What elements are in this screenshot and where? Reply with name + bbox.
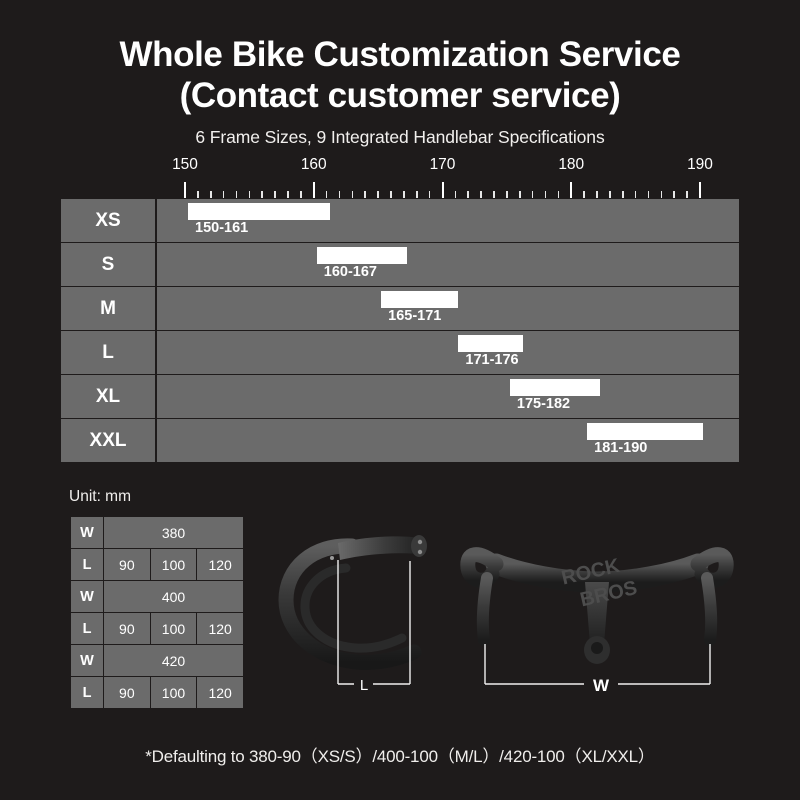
range-text-xl: 175-182 — [517, 396, 570, 412]
size-range-track-m: 165-171 — [156, 287, 740, 331]
steerer-bore — [591, 642, 603, 654]
ruler-minor-tick — [673, 191, 675, 198]
ruler-minor-tick — [506, 191, 508, 198]
ruler-minor-tick — [661, 191, 663, 198]
ruler-minor-tick — [467, 191, 469, 198]
range-bar-m — [381, 291, 458, 308]
range-text-m: 165-171 — [388, 308, 441, 324]
spec-row-header-l-3: L — [71, 613, 104, 645]
ruler-minor-tick — [545, 191, 547, 198]
size-range-track-xxl: 181-190 — [156, 419, 740, 463]
spec-row-header-w-4: W — [71, 645, 104, 677]
page-subtitle: 6 Frame Sizes, 9 Integrated Handlebar Sp… — [0, 127, 800, 148]
ruler-minor-tick — [377, 191, 379, 198]
side-view-dimension-label: L — [360, 677, 368, 694]
size-range-track-l: 171-176 — [156, 331, 740, 375]
size-range-track-xl: 175-182 — [156, 375, 740, 419]
ruler-minor-tick — [339, 191, 341, 198]
ruler-minor-tick — [532, 191, 534, 198]
ruler-minor-tick — [493, 191, 495, 198]
handlebar-inner-drop — [305, 568, 402, 648]
ruler-minor-tick — [648, 191, 650, 198]
handlebar-spec-table: W380L90100120W400L90100120W420L90100120 — [70, 516, 244, 709]
spec-length-value: 120 — [197, 677, 244, 709]
ruler-minor-tick — [249, 191, 251, 198]
ruler-minor-tick — [300, 191, 302, 198]
spec-length-value: 100 — [150, 549, 197, 581]
ruler-minor-tick — [519, 191, 521, 198]
spec-table-row: L90100120 — [71, 613, 244, 645]
spec-row-header-w-0: W — [71, 517, 104, 549]
table-row: M165-171 — [61, 287, 740, 331]
ruler-minor-tick — [197, 191, 199, 198]
spec-width-value: 400 — [104, 581, 244, 613]
range-bar-s — [317, 247, 407, 264]
range-bar-xl — [510, 379, 600, 396]
ruler-label-190: 190 — [687, 156, 713, 174]
unit-label: Unit: mm — [69, 488, 131, 506]
ruler-label-170: 170 — [430, 156, 456, 174]
range-text-l: 171-176 — [465, 352, 518, 368]
spec-length-value: 100 — [150, 613, 197, 645]
spec-table-row: L90100120 — [71, 677, 244, 709]
clamp-bolt-top-icon — [418, 540, 422, 544]
ruler-minor-tick — [326, 191, 328, 198]
size-label-l: L — [61, 331, 157, 375]
clamp-bolt-bottom-icon — [418, 550, 422, 554]
table-row: XS150-161 — [61, 199, 740, 243]
size-label-m: M — [61, 287, 157, 331]
spec-width-value: 380 — [104, 517, 244, 549]
measurement-ruler: 150160170180190 — [60, 156, 740, 198]
spec-width-value: 420 — [104, 645, 244, 677]
ruler-minor-tick — [210, 191, 212, 198]
page-title-line-1: Whole Bike Customization Service — [0, 34, 800, 75]
ruler-minor-tick — [635, 191, 637, 198]
handlebar-side-view-diagram: L — [268, 516, 458, 701]
page-title-line-2: (Contact customer service) — [0, 75, 800, 116]
ruler-major-tick — [699, 182, 701, 198]
page-header: Whole Bike Customization Service (Contac… — [0, 0, 800, 148]
ruler-label-180: 180 — [558, 156, 584, 174]
size-range-track-s: 160-167 — [156, 243, 740, 287]
table-row: S160-167 — [61, 243, 740, 287]
range-text-xxl: 181-190 — [594, 440, 647, 456]
spec-length-value: 90 — [104, 677, 151, 709]
ruler-minor-tick — [429, 191, 431, 198]
size-label-xs: XS — [61, 199, 157, 243]
ruler-minor-tick — [261, 191, 263, 198]
frame-size-chart: 150160170180190 — [60, 156, 740, 198]
ruler-minor-tick — [223, 191, 225, 198]
ruler-major-tick — [442, 182, 444, 198]
handlebar-right-drop — [707, 578, 711, 640]
handlebar-left-drop — [483, 578, 487, 640]
size-label-xxl: XXL — [61, 419, 157, 463]
ruler-minor-tick — [609, 191, 611, 198]
spec-length-value: 100 — [150, 677, 197, 709]
ruler-minor-tick — [455, 191, 457, 198]
spec-row-header-l-5: L — [71, 677, 104, 709]
handlebar-front-view-diagram: ROCK BROS W — [452, 516, 742, 701]
ruler-minor-tick — [480, 191, 482, 198]
ruler-minor-tick — [274, 191, 276, 198]
spec-length-value: 120 — [197, 613, 244, 645]
front-view-dimension-label: W — [593, 676, 610, 695]
spec-length-value: 90 — [104, 613, 151, 645]
ruler-minor-tick — [583, 191, 585, 198]
ruler-minor-tick — [622, 191, 624, 198]
handlebar-side-view-svg: L — [268, 516, 458, 701]
spec-table-row: L90100120 — [71, 549, 244, 581]
range-bar-l — [458, 335, 522, 352]
ruler-minor-tick — [416, 191, 418, 198]
ruler-label-160: 160 — [301, 156, 327, 174]
ruler-label-150: 150 — [172, 156, 198, 174]
spec-length-value: 90 — [104, 549, 151, 581]
handlebar-spec-section: Unit: mm W380L90100120W400L90100120W420L… — [0, 488, 800, 723]
ruler-minor-tick — [287, 191, 289, 198]
ruler-minor-tick — [236, 191, 238, 198]
range-bar-xxl — [587, 423, 703, 440]
spec-length-value: 120 — [197, 549, 244, 581]
size-label-xl: XL — [61, 375, 157, 419]
spec-table-row: W380 — [71, 517, 244, 549]
table-row: XXL181-190 — [61, 419, 740, 463]
range-text-xs: 150-161 — [195, 220, 248, 236]
table-row: XL175-182 — [61, 375, 740, 419]
frame-size-table: XS150-161S160-167M165-171L171-176XL175-1… — [60, 198, 740, 463]
spec-row-header-l-1: L — [71, 549, 104, 581]
ruler-minor-tick — [558, 191, 560, 198]
ruler-minor-tick — [364, 191, 366, 198]
range-bar-xs — [188, 203, 330, 220]
ruler-minor-tick — [686, 191, 688, 198]
ruler-major-tick — [184, 182, 186, 198]
range-text-s: 160-167 — [324, 264, 377, 280]
cable-port-icon — [330, 556, 334, 560]
spec-row-header-w-2: W — [71, 581, 104, 613]
ruler-minor-tick — [390, 191, 392, 198]
table-row: L171-176 — [61, 331, 740, 375]
ruler-major-tick — [570, 182, 572, 198]
spec-table-row: W420 — [71, 645, 244, 677]
ruler-major-tick — [313, 182, 315, 198]
spec-table-row: W400 — [71, 581, 244, 613]
ruler-minor-tick — [596, 191, 598, 198]
ruler-minor-tick — [403, 191, 405, 198]
handlebar-front-view-svg: ROCK BROS W — [452, 516, 742, 701]
size-label-s: S — [61, 243, 157, 287]
ruler-minor-tick — [352, 191, 354, 198]
footer-note: *Defaulting to 380-90（XS/S）/400-100（M/L）… — [0, 742, 800, 767]
size-range-track-xs: 150-161 — [156, 199, 740, 243]
